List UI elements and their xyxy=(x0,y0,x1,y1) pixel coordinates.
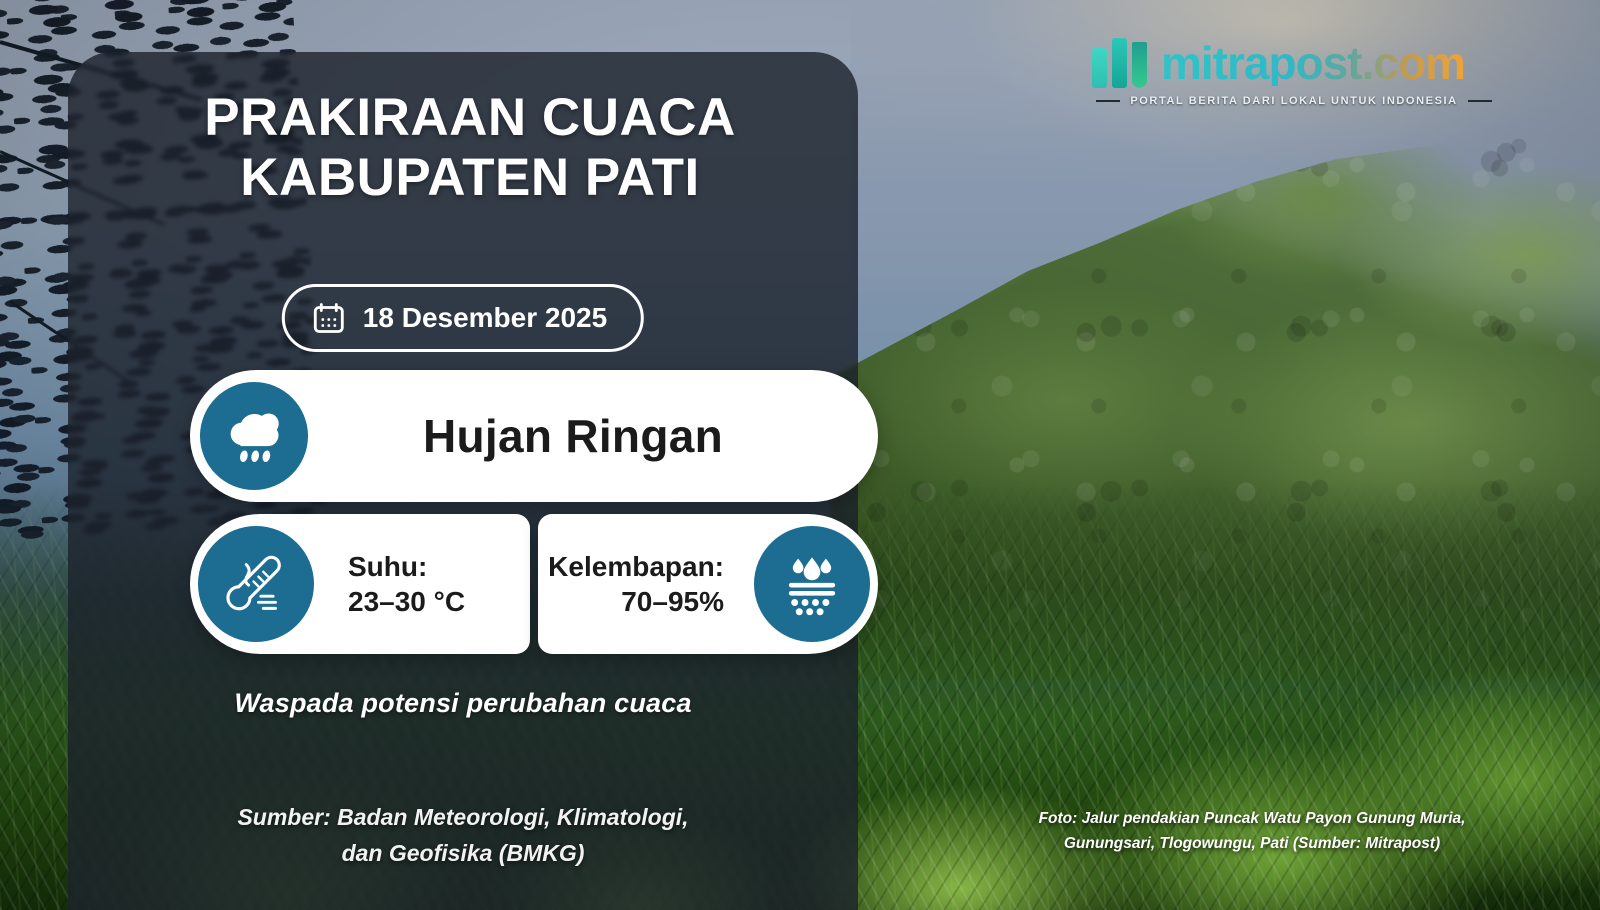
weather-infographic: PRAKIRAAN CUACA KABUPATEN PATI 18 Desemb… xyxy=(0,0,1600,910)
date-label: 18 Desember 2025 xyxy=(363,302,607,334)
weather-condition-label: Hujan Ringan xyxy=(308,409,878,463)
humidity-label: Kelembapan: xyxy=(548,549,724,584)
humidity-text: Kelembapan: 70–95% xyxy=(548,549,724,619)
page-title: PRAKIRAAN CUACA KABUPATEN PATI xyxy=(120,88,820,208)
title-line-1: PRAKIRAAN CUACA xyxy=(120,88,820,148)
weather-warning: Waspada potensi perubahan cuaca xyxy=(68,688,858,719)
logo-bars-icon xyxy=(1092,38,1147,88)
brand-logo[interactable]: mitrapost.com PORTAL BERITA DARI LOKAL U… xyxy=(1092,38,1492,107)
humidity-icon xyxy=(754,526,870,642)
brand-wordmark: mitrapost.com xyxy=(1161,40,1465,86)
data-source: Sumber: Badan Meteorologi, Klimatologi, … xyxy=(68,800,858,871)
humidity-card: Kelembapan: 70–95% xyxy=(538,514,878,654)
tagline-rule-right xyxy=(1468,100,1492,102)
thermometer-icon xyxy=(198,526,314,642)
temperature-text: Suhu: 23–30 °C xyxy=(348,549,465,619)
humidity-value: 70–95% xyxy=(548,584,724,619)
photo-credit-line-1: Foto: Jalur pendakian Puncak Watu Payon … xyxy=(1022,806,1482,831)
photo-credit-line-2: Gunungsari, Tlogowungu, Pati (Sumber: Mi… xyxy=(1022,831,1482,856)
metrics-row: Suhu: 23–30 °C Kelembapan: 70–95% xyxy=(190,514,878,654)
temperature-label: Suhu: xyxy=(348,549,465,584)
source-line-1: Sumber: Badan Meteorologi, Klimatologi, xyxy=(68,800,858,836)
temperature-value: 23–30 °C xyxy=(348,584,465,619)
photo-credit: Foto: Jalur pendakian Puncak Watu Payon … xyxy=(1022,806,1482,856)
content-panel: PRAKIRAAN CUACA KABUPATEN PATI 18 Desemb… xyxy=(68,52,858,910)
logo-row: mitrapost.com xyxy=(1092,38,1492,88)
rain-cloud-icon xyxy=(200,382,308,490)
calendar-icon xyxy=(311,300,347,336)
source-line-2: dan Geofisika (BMKG) xyxy=(68,836,858,872)
title-line-2: KABUPATEN PATI xyxy=(120,148,820,208)
brand-tagline: PORTAL BERITA DARI LOKAL UNTUK INDONESIA xyxy=(1130,95,1457,107)
date-badge: 18 Desember 2025 xyxy=(282,284,644,352)
weather-condition-card: Hujan Ringan xyxy=(190,370,878,502)
brand-tagline-row: PORTAL BERITA DARI LOKAL UNTUK INDONESIA xyxy=(1092,95,1492,107)
temperature-card: Suhu: 23–30 °C xyxy=(190,514,530,654)
tagline-rule-left xyxy=(1096,100,1120,102)
